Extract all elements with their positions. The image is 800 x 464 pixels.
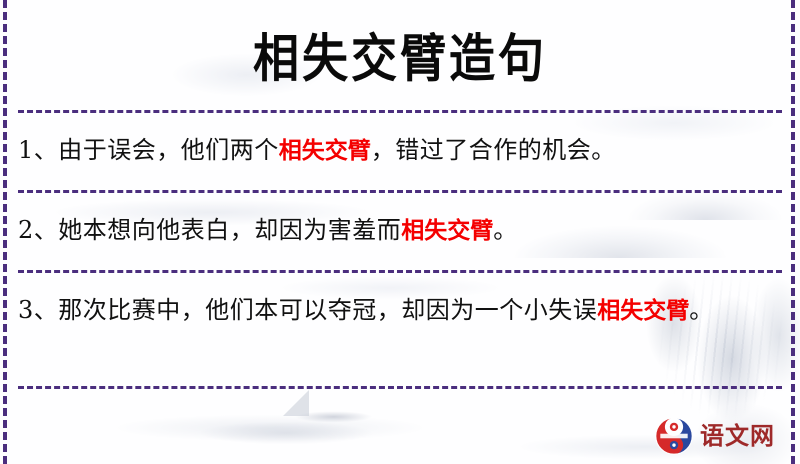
frame-border-right [791,0,795,464]
sentence-item-1: 1、由于误会，他们两个相失交臂，错过了合作的机会。 [18,129,782,172]
idiom-highlight-2: 相失交臂 [401,218,493,244]
sentence-text-before-1: 由于误会，他们两个 [58,136,279,164]
title-band: 相失交臂造句 [0,0,800,110]
site-watermark-text: 语文网 [700,424,775,448]
idiom-highlight-1: 相失交臂 [279,138,371,164]
sentence-item-2: 2、她本想向他表白，却因为害羞而相失交臂。 [18,209,782,252]
divider-rule-4 [18,386,782,389]
divider-rule-1 [18,110,782,113]
page-title: 相失交臂造句 [253,18,547,92]
sentence-item-3: 3、那次比赛中，他们本可以夺冠，却因为一个小失误相失交臂。 [18,289,782,332]
yinyang-globe-icon [655,417,693,455]
slide-page: 相失交臂造句 1、由于误会，他们两个相失交臂，错过了合作的机会。 2、她本想向他… [0,0,800,464]
sentence-text-before-2: 她本想向他表白，却因为害羞而 [58,216,401,244]
divider-rule-3 [18,270,782,273]
sentence-index-1: 1、 [18,136,58,164]
frame-border-left [3,0,7,464]
sentence-text-after-3: 。 [689,296,714,324]
sentence-text-before-3: 那次比赛中，他们本可以夺冠，却因为一个小失误 [58,296,597,324]
sentence-text-after-1: ，错过了合作的机会。 [371,136,616,164]
site-watermark-logo: 语文网 [655,414,785,458]
sentence-index-3: 3、 [18,296,58,324]
sentence-text-after-2: 。 [493,216,518,244]
slide-content: 相失交臂造句 1、由于误会，他们两个相失交臂，错过了合作的机会。 2、她本想向他… [0,0,800,464]
divider-rule-2 [18,190,782,193]
idiom-highlight-3: 相失交臂 [597,298,689,324]
sentence-index-2: 2、 [18,216,58,244]
